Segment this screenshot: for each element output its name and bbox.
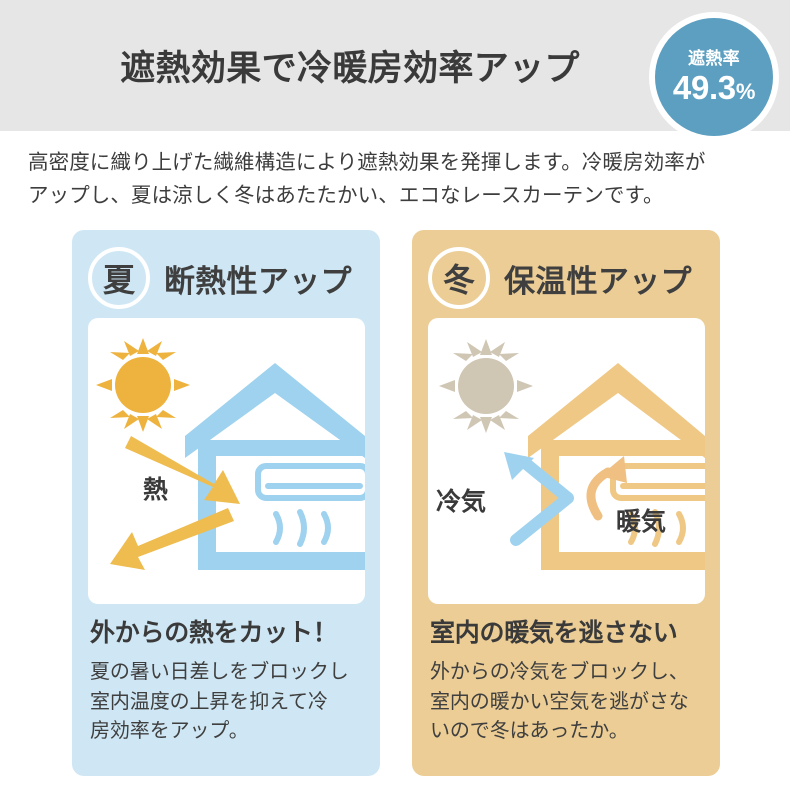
warm-air-arrow	[591, 472, 608, 516]
summer-copy-title: 外からの熱をカット！	[90, 618, 368, 648]
badge-label: 遮熱率	[688, 50, 740, 67]
sun-icon	[96, 338, 190, 432]
shading-rate-badge: 遮熱率 49.3%	[655, 18, 773, 136]
feature-panels: 夏 断熱性アップ	[72, 230, 720, 776]
winter-copy: 室内の暖気を逃さない 外からの冷気をブロックし、 室内の暖かい空気を逃がさな い…	[430, 618, 708, 747]
label-cold-air: 冷気	[436, 487, 486, 516]
panel-summer: 夏 断熱性アップ	[72, 230, 380, 776]
intro-line-1: 高密度に織り上げた繊維構造により遮熱効果を発揮します。冷暖房効率が	[28, 146, 758, 179]
panel-summer-header: 夏 断熱性アップ	[72, 238, 380, 318]
label-warm-air: 暖気	[616, 507, 666, 536]
winter-copy-title: 室内の暖気を逃さない	[430, 618, 708, 648]
label-heat: 熱	[143, 476, 168, 504]
summer-copy-line-3: 房効率をアップ。	[90, 717, 368, 747]
winter-copy-line-3: いので冬はあったか。	[430, 717, 708, 747]
summer-illustration-card: 熱	[88, 318, 365, 604]
summer-copy: 外からの熱をカット！ 夏の暑い日差しをブロックし 室内温度の上昇を抑えて冷 房効…	[90, 618, 368, 747]
panel-winter-header: 冬 保温性アップ	[412, 238, 720, 318]
winter-copy-line-2: 室内の暖かい空気を逃がさな	[430, 688, 708, 718]
winter-illustration-card: 冷気 暖気	[428, 318, 705, 604]
summer-copy-line-2: 室内温度の上昇を抑えて冷	[90, 688, 368, 718]
intro-paragraph: 高密度に織り上げた繊維構造により遮熱効果を発揮します。冷暖房効率が アップし、夏…	[28, 146, 758, 212]
panel-winter-heading: 保温性アップ	[504, 256, 692, 301]
badge-unit: %	[736, 79, 755, 104]
winter-copy-body: 外からの冷気をブロックし、 室内の暖かい空気を逃がさな いので冬はあったか。	[430, 658, 708, 747]
badge-value: 49.3%	[673, 71, 755, 104]
summer-copy-body: 夏の暑い日差しをブロックし 室内温度の上昇を抑えて冷 房効率をアップ。	[90, 658, 368, 747]
ac-wind-lines	[276, 512, 328, 544]
badge-number: 49.3	[673, 69, 736, 106]
panel-summer-heading: 断熱性アップ	[164, 256, 352, 301]
panel-winter: 冬 保温性アップ	[412, 230, 720, 776]
dim-sun-icon	[439, 339, 533, 433]
air-conditioner-icon	[258, 466, 365, 498]
winter-copy-line-1: 外からの冷気をブロックし、	[430, 658, 708, 688]
intro-line-2: アップし、夏は涼しく冬はあたたかい、エコなレースカーテンです。	[28, 179, 758, 212]
season-mark-winter: 冬	[428, 247, 490, 309]
summer-copy-line-1: 夏の暑い日差しをブロックし	[90, 658, 368, 688]
page-title: 遮熱効果で冷暖房効率アップ	[0, 0, 660, 131]
season-mark-summer: 夏	[88, 247, 150, 309]
